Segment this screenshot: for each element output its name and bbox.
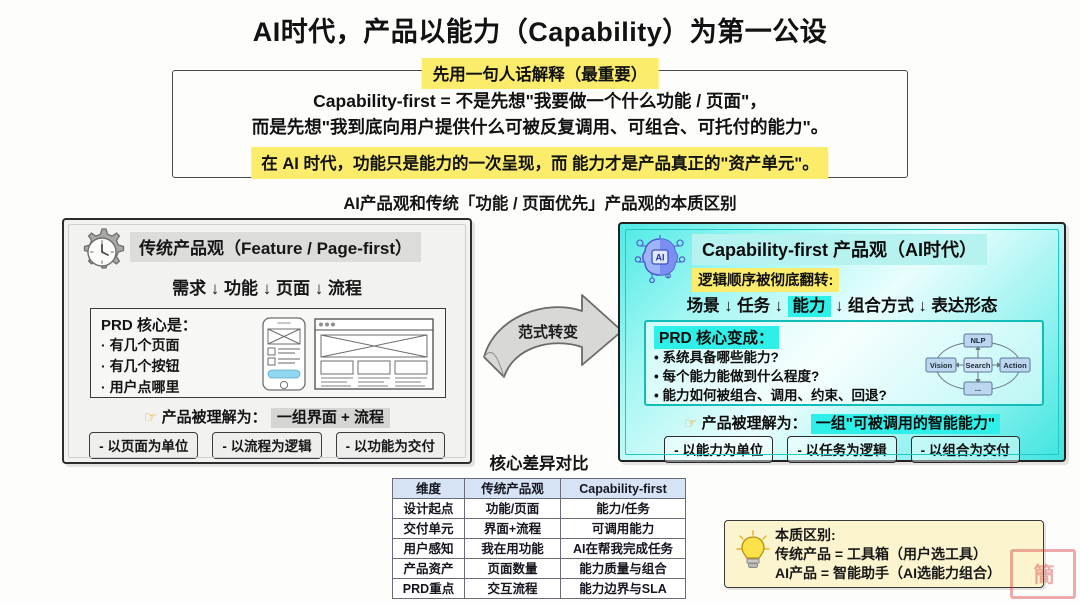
table-row: PRD重点 交互流程 能力边界与SLA xyxy=(393,579,686,599)
capability-tag-row: - 以能力为单位 - 以任务为逻辑 - 以组合为交付 xyxy=(620,436,1064,463)
table-cell: 用户感知 xyxy=(393,539,465,559)
traditional-prd-list: 有几个页面 有几个按钮 用户点哪里 xyxy=(101,335,180,398)
table-row: 产品资产 页面数量 能力质量与组合 xyxy=(393,559,686,579)
table-cell: 能力边界与SLA xyxy=(561,579,686,599)
explanation-lines: Capability-first = 不是先想"我要做一个什么功能 / 页面"，… xyxy=(0,88,1080,140)
list-item: 能力如何被组合、调用、约束、回退? xyxy=(654,386,887,405)
comparison-heading: 核心差异对比 xyxy=(392,450,686,474)
column-header: 传统产品观 xyxy=(465,479,561,499)
comparison-table: 维度 传统产品观 Capability-first 设计起点 功能/页面 能力/… xyxy=(392,478,686,599)
page-title: AI时代，产品以能力（Capability）为第一公设 xyxy=(0,10,1080,49)
table-row: 交付单元 界面+流程 可调用能力 xyxy=(393,519,686,539)
note-line-3: AI产品 = 智能助手（AI选能力组合） xyxy=(775,564,1001,583)
capability-network-diagram: NLP Vision Search Action ... xyxy=(920,328,1036,402)
capability-conclusion-highlight: 一组"可被调用的智能能力" xyxy=(811,414,1000,434)
svg-text:AI: AI xyxy=(656,253,665,263)
capability-flow-highlight: 能力 xyxy=(788,296,831,317)
list-item: 有几个按钮 xyxy=(101,356,180,377)
essential-difference-note: 本质区别: 传统产品 = 工具箱（用户选工具） AI产品 = 智能助手（AI选能… xyxy=(724,520,1044,588)
table-cell: 可调用能力 xyxy=(561,519,686,539)
column-header: Capability-first xyxy=(561,479,686,499)
capability-panel-heading: Capability-first 产品观（AI时代） xyxy=(692,234,987,265)
column-header: 维度 xyxy=(393,479,465,499)
table-cell: AI在帮我完成任务 xyxy=(561,539,686,559)
capability-prd-list: 系统具备哪些能力? 每个能力能做到什么程度? 能力如何被组合、调用、约束、回退? xyxy=(654,348,887,405)
traditional-conclusion-highlight: 一组界面 + 流程 xyxy=(271,408,390,428)
svg-text:Vision: Vision xyxy=(930,361,953,370)
table-cell: 能力/任务 xyxy=(561,499,686,519)
wireframe-illustration xyxy=(257,315,437,393)
explanation-footer: 在 AI 时代，功能只是能力的一次呈现，而 能力才是产品真正的"资产单元"。 xyxy=(251,147,828,179)
capability-panel-subhead: 逻辑顺序被彻底翻转: xyxy=(692,268,839,292)
traditional-panel-heading: 传统产品观（Feature / Page-first） xyxy=(130,232,421,262)
traditional-flow: 需求 ↓ 功能 ↓ 页面 ↓ 流程 xyxy=(64,274,470,299)
explanation-line-1: Capability-first = 不是先想"我要做一个什么功能 / 页面"， xyxy=(0,88,1080,114)
arrow-label: 范式转变 xyxy=(500,321,596,342)
explanation-badge: 先用一句人话解释（最重要） xyxy=(422,58,659,89)
capability-prd-box: PRD 核心变成： 系统具备哪些能力? 每个能力能做到什么程度? 能力如何被组合… xyxy=(644,320,1044,406)
table-cell: 页面数量 xyxy=(465,559,561,579)
capability-flow: 场景 ↓ 任务 ↓ 能力 ↓ 组合方式 ↓ 表达形态 xyxy=(620,292,1064,316)
lightbulb-icon xyxy=(735,529,771,571)
capability-tag: - 以组合为交付 xyxy=(911,436,1020,463)
traditional-conclusion-prefix: 产品被理解为： xyxy=(162,409,267,426)
table-cell: 能力质量与组合 xyxy=(561,559,686,579)
note-line-2: 传统产品 = 工具箱（用户选工具） xyxy=(775,545,1001,564)
svg-text:Action: Action xyxy=(1003,361,1027,370)
table-row: 用户感知 我在用功能 AI在帮我完成任务 xyxy=(393,539,686,559)
capability-conclusion: ☞ 产品被理解为： 一组"可被调用的智能能力" xyxy=(620,412,1064,433)
table-cell: 我在用功能 xyxy=(465,539,561,559)
explanation-line-2: 而是先想"我到底向用户提供什么可被反复调用、可组合、可托付的能力"。 xyxy=(0,114,1080,140)
traditional-conclusion: ☞ 产品被理解为： 一组界面 + 流程 xyxy=(64,406,470,427)
list-item: 系统具备哪些能力? xyxy=(654,348,887,367)
table-cell: 功能/页面 xyxy=(465,499,561,519)
poster-canvas: AI时代，产品以能力（Capability）为第一公设 先用一句人话解释（最重要… xyxy=(0,0,1080,603)
clock-gear-icon xyxy=(76,226,128,278)
section-subtitle: AI产品观和传统「功能 / 页面优先」产品观的本质区别 xyxy=(0,190,1080,214)
capability-conclusion-prefix: 产品被理解为： xyxy=(702,415,807,432)
svg-text:...: ... xyxy=(975,384,981,393)
ai-brain-icon: AI xyxy=(632,232,688,284)
pointing-hand-icon: ☞ xyxy=(684,415,697,432)
paradigm-shift-arrow: 范式转变 xyxy=(478,285,628,395)
table-cell: 产品资产 xyxy=(393,559,465,579)
capability-tag: - 以任务为逻辑 xyxy=(787,436,896,463)
table-cell: 交互流程 xyxy=(465,579,561,599)
svg-text:Search: Search xyxy=(965,361,990,370)
table-row: 设计起点 功能/页面 能力/任务 xyxy=(393,499,686,519)
capability-first-panel: AI Capability-first 产品观（AI时代） 逻辑顺序被彻底翻转:… xyxy=(618,222,1066,462)
table-cell: 设计起点 xyxy=(393,499,465,519)
traditional-prd-title: PRD 核心是： xyxy=(101,314,197,335)
note-line-1: 本质区别: xyxy=(775,526,1001,545)
capability-prd-title: PRD 核心变成： xyxy=(654,326,779,349)
traditional-tag: - 以页面为单位 xyxy=(89,432,198,459)
list-item: 有几个页面 xyxy=(101,335,180,356)
table-header-row: 维度 传统产品观 Capability-first xyxy=(393,479,686,499)
table-cell: 界面+流程 xyxy=(465,519,561,539)
traditional-tag: - 以流程为逻辑 xyxy=(212,432,321,459)
list-item: 用户点哪里 xyxy=(101,377,180,398)
svg-text:NLP: NLP xyxy=(971,336,986,345)
list-item: 每个能力能做到什么程度? xyxy=(654,367,887,386)
capability-flow-part-3: ↓ 组合方式 ↓ 表达形态 xyxy=(831,297,998,315)
capability-flow-part-1: 场景 ↓ 任务 ↓ xyxy=(687,297,788,315)
note-lines: 本质区别: 传统产品 = 工具箱（用户选工具） AI产品 = 智能助手（AI选能… xyxy=(775,526,1001,583)
watermark-stamp: 簡 xyxy=(1010,549,1076,599)
table-cell: 交付单元 xyxy=(393,519,465,539)
table-cell: PRD重点 xyxy=(393,579,465,599)
traditional-product-panel: 传统产品观（Feature / Page-first） 需求 ↓ 功能 ↓ 页面… xyxy=(62,218,472,464)
pointing-hand-icon: ☞ xyxy=(144,409,157,426)
traditional-prd-box: PRD 核心是： 有几个页面 有几个按钮 用户点哪里 xyxy=(90,308,446,398)
